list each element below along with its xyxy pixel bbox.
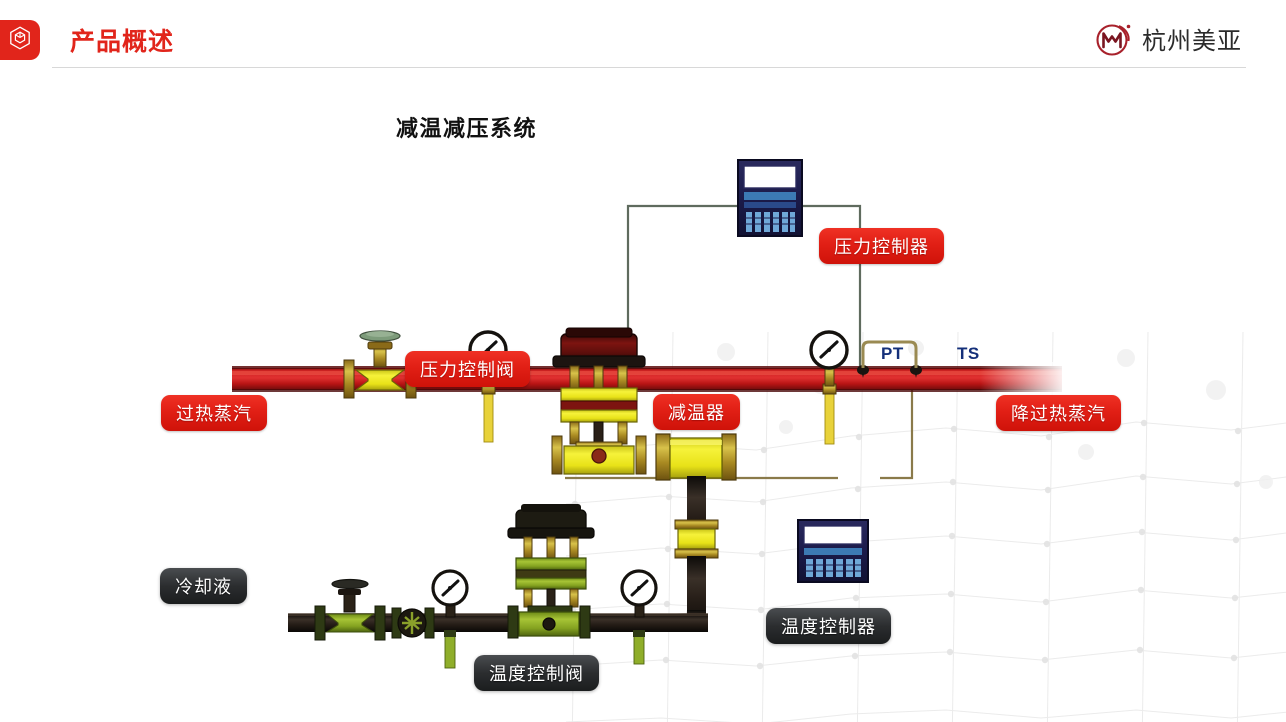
label-coolant: 冷却液 [160,568,247,604]
steam-main-pipe [232,362,1062,396]
desuperheater-unit [656,434,736,480]
page-header: 产品概述 杭州美亚 [0,0,1286,70]
label-superheated-steam: 过热蒸汽 [161,395,267,431]
slide-canvas: 产品概述 杭州美亚 减温减压系统 [0,0,1286,722]
label-temperature-controller: 温度控制器 [766,608,891,644]
page-title: 产品概述 [70,27,174,57]
temperature-controller-device [798,520,868,582]
label-pressure-control-valve: 压力控制阀 [405,351,530,387]
pressure-control-valve [552,328,646,474]
pressure-controller-device [738,160,802,236]
label-pressure-controller: 压力控制器 [819,228,944,264]
tag-pt: PT [881,344,904,364]
header-badge [0,20,40,60]
brand-name: 杭州美亚 [1142,27,1242,57]
label-temperature-control-valve: 温度控制阀 [474,655,599,691]
system-diagram: 减温减压系统 [0,70,1286,722]
header-divider [52,67,1246,68]
cube-hexagon-icon [9,26,31,55]
label-desuperheater: 减温器 [653,394,740,430]
coolant-gate-valve [315,580,385,641]
meiya-m-logo-icon [1092,18,1134,65]
brand-logo: 杭州美亚 [1092,18,1242,65]
label-desuperheated-steam: 降过热蒸汽 [996,395,1121,431]
temperature-control-valve [508,504,594,638]
tag-ts: TS [957,344,980,364]
coolant-strainer [392,608,434,638]
coolant-drop-leg [612,476,718,632]
